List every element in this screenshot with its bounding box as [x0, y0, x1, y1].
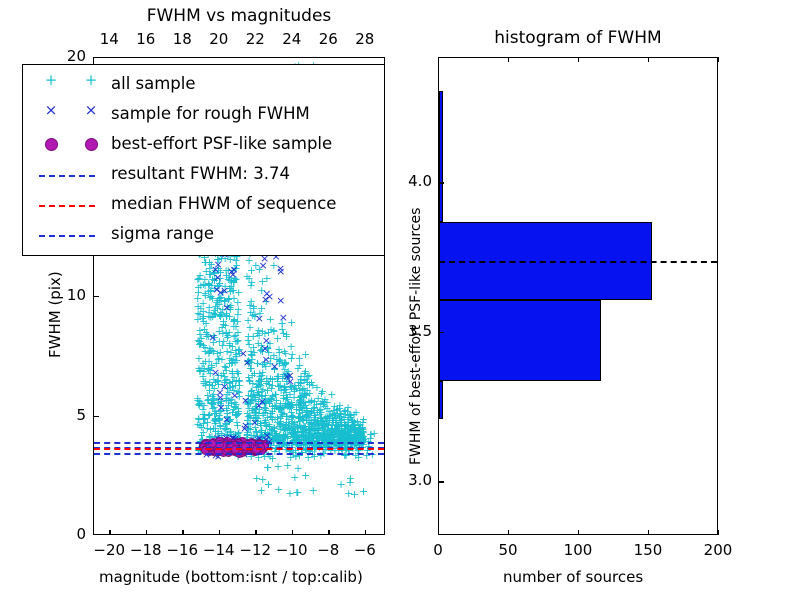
scatter-point-all-sample: +: [266, 314, 275, 325]
scatter-point-all-sample: +: [194, 273, 203, 284]
hist-x-tick-mark-top-0: [438, 57, 439, 62]
x-tick-bottom--16: −16: [164, 541, 200, 559]
scatter-point-all-sample: +: [283, 460, 292, 471]
scatter-point-all-sample: +: [293, 487, 302, 498]
legend-item-label: sample for rough FWHM: [111, 104, 310, 123]
histogram-median-line: [439, 261, 717, 263]
x-tick-bottom--10: −10: [274, 541, 310, 559]
scatter-point-rough-fwhm: ×: [211, 264, 220, 275]
legend-item-5: sigma range: [23, 221, 384, 251]
scatter-point-rough-fwhm: ×: [216, 392, 225, 403]
x-tick-mark-bottom--16: [182, 530, 183, 535]
scatter-point-all-sample: +: [263, 462, 272, 473]
x-tick-bottom--8: −8: [310, 541, 346, 559]
scatter-point-all-sample: +: [205, 343, 214, 354]
scatter-point-rough-fwhm: ×: [279, 312, 288, 323]
scatter-point-rough-fwhm: ×: [222, 302, 231, 313]
scatter-point-rough-fwhm: ×: [239, 348, 248, 359]
scatter-point-all-sample: +: [199, 316, 208, 327]
hist-x-tick-mark-top-50: [508, 57, 509, 62]
hist-y-tick-mark-4.0: [438, 182, 444, 183]
scatter-point-all-sample: +: [287, 317, 296, 328]
scatter-point-all-sample: +: [311, 410, 320, 421]
hist-x-tick-mark-100: [578, 530, 579, 535]
scatter-point-rough-fwhm: ×: [230, 390, 239, 401]
right-panel-ylabel: FWHM of best-effort PSF-like sources: [408, 208, 424, 465]
hist-y-tick-mark-3.5: [438, 332, 444, 333]
right-panel-title: histogram of FWHM: [438, 28, 718, 48]
scatter-point-rough-fwhm: ×: [228, 269, 237, 280]
hist-x-tick-mark-top-150: [648, 57, 649, 62]
legend-item-label: median FHWM of sequence: [111, 194, 336, 213]
x-tick-bottom--12: −12: [237, 541, 273, 559]
x-tick-top-24: 24: [276, 30, 308, 48]
x-tick-mark-bottom--14: [219, 530, 220, 535]
legend-plus-icon: +: [41, 71, 61, 89]
scatter-point-all-sample: +: [370, 428, 379, 439]
scatter-point-all-sample: +: [225, 327, 234, 338]
x-tick-mark-bottom--18: [146, 530, 147, 535]
scatter-point-all-sample: +: [195, 398, 204, 409]
scatter-point-all-sample: +: [304, 370, 313, 381]
scatter-point-all-sample: +: [295, 353, 304, 364]
scatter-point-all-sample: +: [207, 398, 216, 409]
scatter-point-rough-fwhm: ×: [240, 423, 249, 434]
legend-item-label: sigma range: [111, 224, 214, 243]
histogram-bar-3: [439, 91, 443, 222]
scatter-point-all-sample: +: [309, 485, 318, 496]
x-tick-top-14: 14: [93, 30, 125, 48]
x-tick-bottom--6: −6: [347, 541, 383, 559]
scatter-point-all-sample: +: [359, 486, 368, 497]
scatter-point-rough-fwhm: ×: [276, 295, 285, 306]
scatter-point-all-sample: +: [216, 347, 225, 358]
x-tick-mark-bottom--12: [255, 530, 256, 535]
x-tick-top-28: 28: [349, 30, 381, 48]
scatter-point-rough-fwhm: ×: [260, 343, 269, 354]
scatter-point-rough-fwhm: ×: [250, 417, 259, 428]
scatter-point-all-sample: +: [310, 396, 319, 407]
figure-canvas: FWHM vs magnitudes 1416182022242628 ++++…: [0, 0, 800, 600]
scatter-point-rough-fwhm: ×: [241, 395, 250, 406]
left-panel-ylabel: FWHM (pix): [46, 271, 64, 358]
scatter-point-rough-fwhm: ×: [211, 367, 220, 378]
scatter-point-all-sample: +: [281, 348, 290, 359]
scatter-point-all-sample: +: [247, 277, 256, 288]
right-panel-xlabel: number of sources: [503, 568, 643, 586]
x-tick-top-20: 20: [203, 30, 235, 48]
legend-cross-icon: ×: [81, 101, 101, 119]
hist-x-tick-200: 200: [696, 541, 740, 559]
hist-x-tick-0: 0: [416, 541, 460, 559]
legend: ++all sample××sample for rough FWHMbest-…: [22, 64, 385, 256]
y-tick-20: 20: [56, 47, 86, 65]
legend-item-4: median FHWM of sequence: [23, 191, 384, 221]
legend-item-2: best-effort PSF-like sample: [23, 131, 384, 161]
x-tick-top-22: 22: [239, 30, 271, 48]
legend-cross-icon: ×: [41, 101, 61, 119]
y-tick-0: 0: [56, 525, 86, 543]
scatter-point-rough-fwhm: ×: [262, 288, 271, 299]
hist-y-tick-mark-3.0: [438, 481, 444, 482]
scatter-point-all-sample: +: [351, 450, 360, 461]
legend-circle-icon: [85, 138, 98, 151]
legend-item-0: ++all sample: [23, 71, 384, 101]
annotation-sigma-range-lower: [94, 453, 384, 455]
x-tick-mark-bottom--6: [365, 530, 366, 535]
hist-x-tick-mark-0: [438, 530, 439, 535]
x-tick-mark-bottom--20: [109, 530, 110, 535]
legend-item-1: ××sample for rough FWHM: [23, 101, 384, 131]
scatter-point-all-sample: +: [294, 413, 303, 424]
scatter-point-rough-fwhm: ×: [216, 287, 225, 298]
scatter-point-rough-fwhm: ×: [208, 332, 217, 343]
scatter-point-all-sample: +: [258, 276, 267, 287]
scatter-point-all-sample: +: [257, 485, 266, 496]
x-tick-mark-bottom--10: [292, 530, 293, 535]
hist-y-tick-4.0: 4.0: [392, 172, 432, 190]
hist-x-tick-mark-top-100: [578, 57, 579, 62]
scatter-point-all-sample: +: [350, 489, 359, 500]
scatter-point-all-sample: +: [247, 265, 256, 276]
scatter-point-rough-fwhm: ×: [270, 361, 279, 372]
left-panel-xlabel: magnitude (bottom:isnt / top:calib): [99, 568, 363, 586]
hist-x-tick-100: 100: [556, 541, 600, 559]
hist-x-tick-mark-top-200: [718, 57, 719, 62]
x-tick-bottom--18: −18: [128, 541, 164, 559]
scatter-point-all-sample: +: [252, 473, 261, 484]
scatter-point-all-sample: +: [340, 406, 349, 417]
histogram-bar-0: [439, 381, 443, 420]
scatter-point-all-sample: +: [338, 429, 347, 440]
scatter-point-all-sample: +: [244, 372, 253, 383]
legend-dashed-line-icon: [39, 205, 95, 207]
left-panel-title: FWHM vs magnitudes: [93, 6, 385, 26]
legend-item-label: all sample: [111, 74, 196, 93]
scatter-point-all-sample: +: [249, 301, 258, 312]
legend-plus-icon: +: [81, 71, 101, 89]
hist-y-tick-3.0: 3.0: [392, 471, 432, 489]
x-tick-bottom--20: −20: [91, 541, 127, 559]
scatter-point-all-sample: +: [357, 426, 366, 437]
hist-x-tick-150: 150: [626, 541, 670, 559]
right-panel-axes: [438, 57, 718, 535]
x-tick-top-18: 18: [166, 30, 198, 48]
scatter-point-all-sample: +: [228, 366, 237, 377]
x-tick-top-16: 16: [130, 30, 162, 48]
scatter-point-all-sample: +: [292, 431, 301, 442]
scatter-point-all-sample: +: [290, 472, 299, 483]
hist-x-tick-50: 50: [486, 541, 530, 559]
legend-dashdot-line-icon: [39, 235, 95, 237]
hist-x-tick-mark-50: [508, 530, 509, 535]
legend-item-label: best-effort PSF-like sample: [111, 134, 332, 153]
scatter-point-rough-fwhm: ×: [254, 400, 263, 411]
legend-circle-icon: [45, 138, 58, 151]
histogram-bar-1: [439, 300, 601, 381]
x-tick-bottom--14: −14: [201, 541, 237, 559]
scatter-point-all-sample: +: [194, 413, 203, 424]
annotation-sigma-range-upper: [94, 442, 384, 444]
hist-x-tick-mark-150: [648, 530, 649, 535]
legend-dashed-line-icon: [39, 175, 95, 177]
y-tick-mark-5: [93, 416, 99, 417]
histogram-plot-area: [439, 58, 717, 534]
annotation-median-FHWM-of-sequence: [94, 448, 384, 450]
scatter-point-rough-fwhm: ×: [276, 266, 285, 277]
scatter-point-rough-fwhm: ×: [255, 313, 264, 324]
scatter-point-rough-fwhm: ×: [285, 370, 294, 381]
x-tick-top-26: 26: [312, 30, 344, 48]
scatter-point-all-sample: +: [230, 314, 239, 325]
hist-x-tick-mark-200: [718, 530, 719, 535]
y-tick-mark-10: [93, 296, 99, 297]
x-tick-mark-bottom--8: [328, 530, 329, 535]
scatter-point-all-sample: +: [312, 382, 321, 393]
legend-item-label: resultant FWHM: 3.74: [111, 164, 290, 183]
y-tick-5: 5: [56, 406, 86, 424]
scatter-point-all-sample: +: [274, 484, 283, 495]
legend-item-3: resultant FWHM: 3.74: [23, 161, 384, 191]
scatter-point-rough-fwhm: ×: [222, 414, 231, 425]
scatter-point-all-sample: +: [282, 329, 291, 340]
